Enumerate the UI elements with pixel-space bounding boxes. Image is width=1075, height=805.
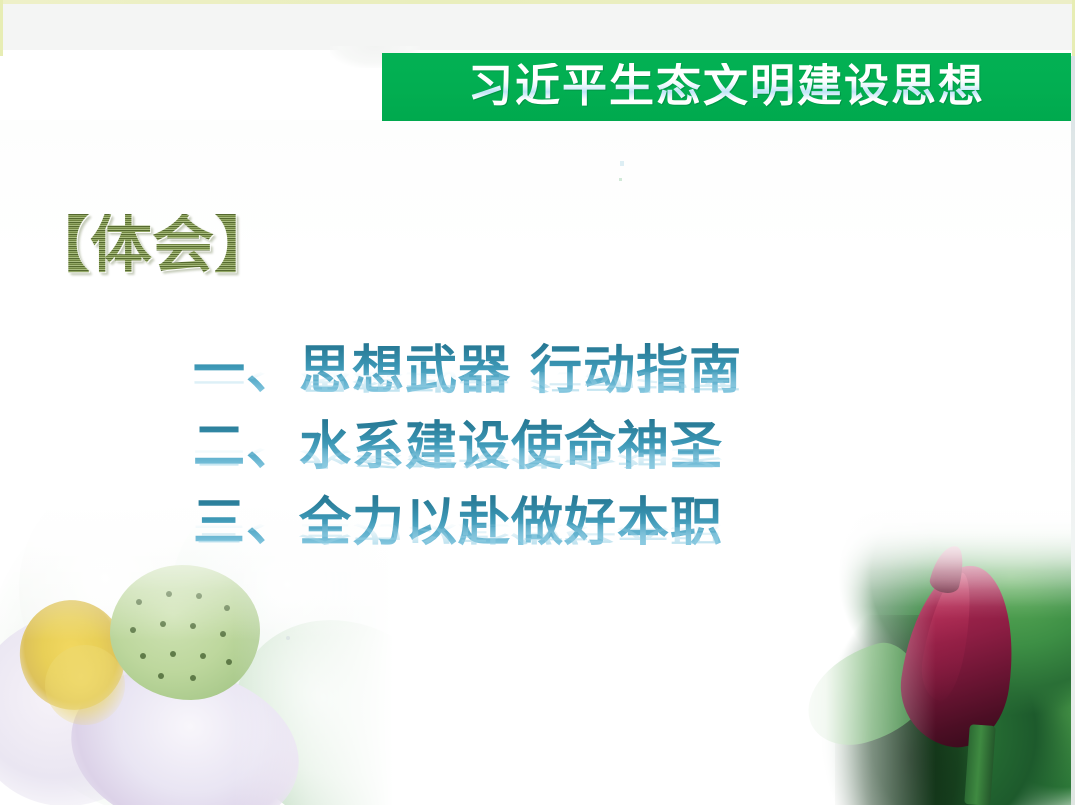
banner-title-text: 习近平生态文明建设思想 (468, 63, 985, 111)
slide-border-left (0, 0, 3, 56)
section-heading-text: 【体会】 (28, 214, 276, 276)
outline-item-1-label: 一、思想武器 行动指南 (193, 340, 742, 402)
lotus-seed-pod (110, 565, 260, 700)
scan-artifact (619, 178, 622, 181)
slide-border-right-lower (1071, 56, 1075, 805)
slide-border-top (0, 0, 1075, 4)
presentation-slide: 习近平生态文明建设思想 【体会】 一、思想武器 行动指南 一、思想武器 行动指南… (0, 0, 1075, 805)
outline-item-2: 二、水系建设使命神圣 二、水系建设使命神圣 (193, 416, 742, 492)
outline-item-3-label: 三、全力以赴做好本职 (193, 492, 742, 554)
outline-list: 一、思想武器 行动指南 一、思想武器 行动指南 二、水系建设使命神圣 二、水系建… (193, 340, 742, 568)
lotus-bud-image (785, 505, 1075, 805)
outline-item-1: 一、思想武器 行动指南 一、思想武器 行动指南 (193, 340, 742, 416)
scan-artifact (620, 161, 624, 166)
top-band (0, 4, 1075, 50)
section-heading: 【体会】 (28, 214, 276, 276)
title-banner: 习近平生态文明建设思想 (382, 53, 1071, 121)
outline-item-2-label: 二、水系建设使命神圣 (193, 416, 742, 478)
scan-artifact (286, 636, 290, 640)
outline-item-3: 三、全力以赴做好本职 三、全力以赴做好本职 (193, 492, 742, 568)
